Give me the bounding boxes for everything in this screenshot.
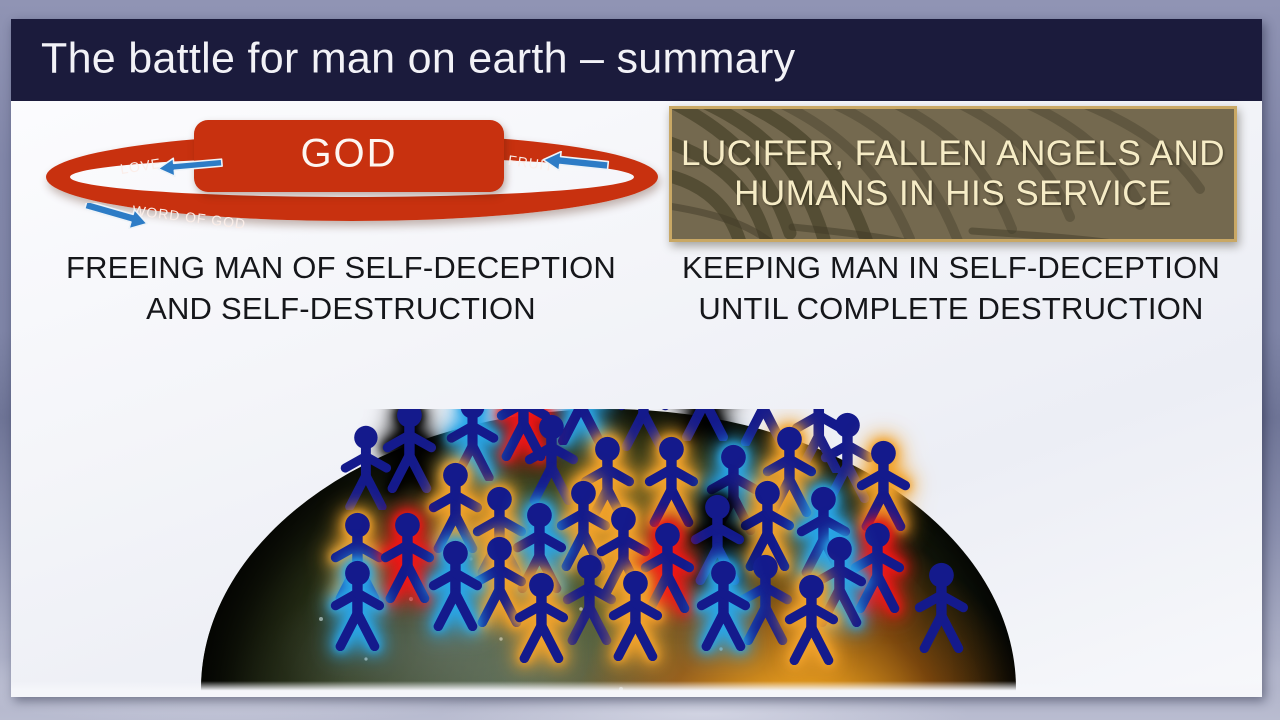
arrow-right-icon-word-of-god (82, 203, 152, 229)
god-box: GOD (194, 120, 504, 192)
person-figure (606, 569, 665, 660)
person-figure (694, 559, 753, 650)
person-figure (782, 573, 841, 664)
caption-right: KEEPING MAN IN SELF-DECEPTION UNTIL COMP… (661, 247, 1241, 329)
lucifer-heading-text: LUCIFER, FALLEN ANGELS AND HUMANS IN HIS… (672, 109, 1234, 239)
presentation-slide: The battle for man on earth – summary GO… (11, 19, 1262, 697)
person-figure (912, 561, 971, 652)
person-figure (338, 424, 394, 510)
lucifer-heading-box: LUCIFER, FALLEN ANGELS AND HUMANS IN HIS… (669, 106, 1237, 242)
arrow-left-icon-fruit (538, 151, 610, 175)
god-cycle-diagram: GOD LOVE WORD OF GOD FRUIT (24, 111, 674, 241)
person-figure (854, 439, 913, 530)
slide-title-bar: The battle for man on earth – summary (11, 19, 1262, 101)
slide-title: The battle for man on earth – summary (41, 35, 795, 84)
caption-left: FREEING MAN OF SELF-DECEPTION AND SELF-D… (31, 247, 651, 329)
globe-bottom-fade (11, 681, 1262, 697)
person-figure (512, 571, 571, 662)
earth-illustration (11, 409, 1262, 697)
slide-stage: The battle for man on earth – summary GO… (0, 0, 1280, 720)
person-figure (328, 559, 387, 650)
god-box-label: GOD (194, 131, 504, 176)
person-figure (426, 539, 485, 630)
arrow-left-icon-love (154, 155, 224, 177)
